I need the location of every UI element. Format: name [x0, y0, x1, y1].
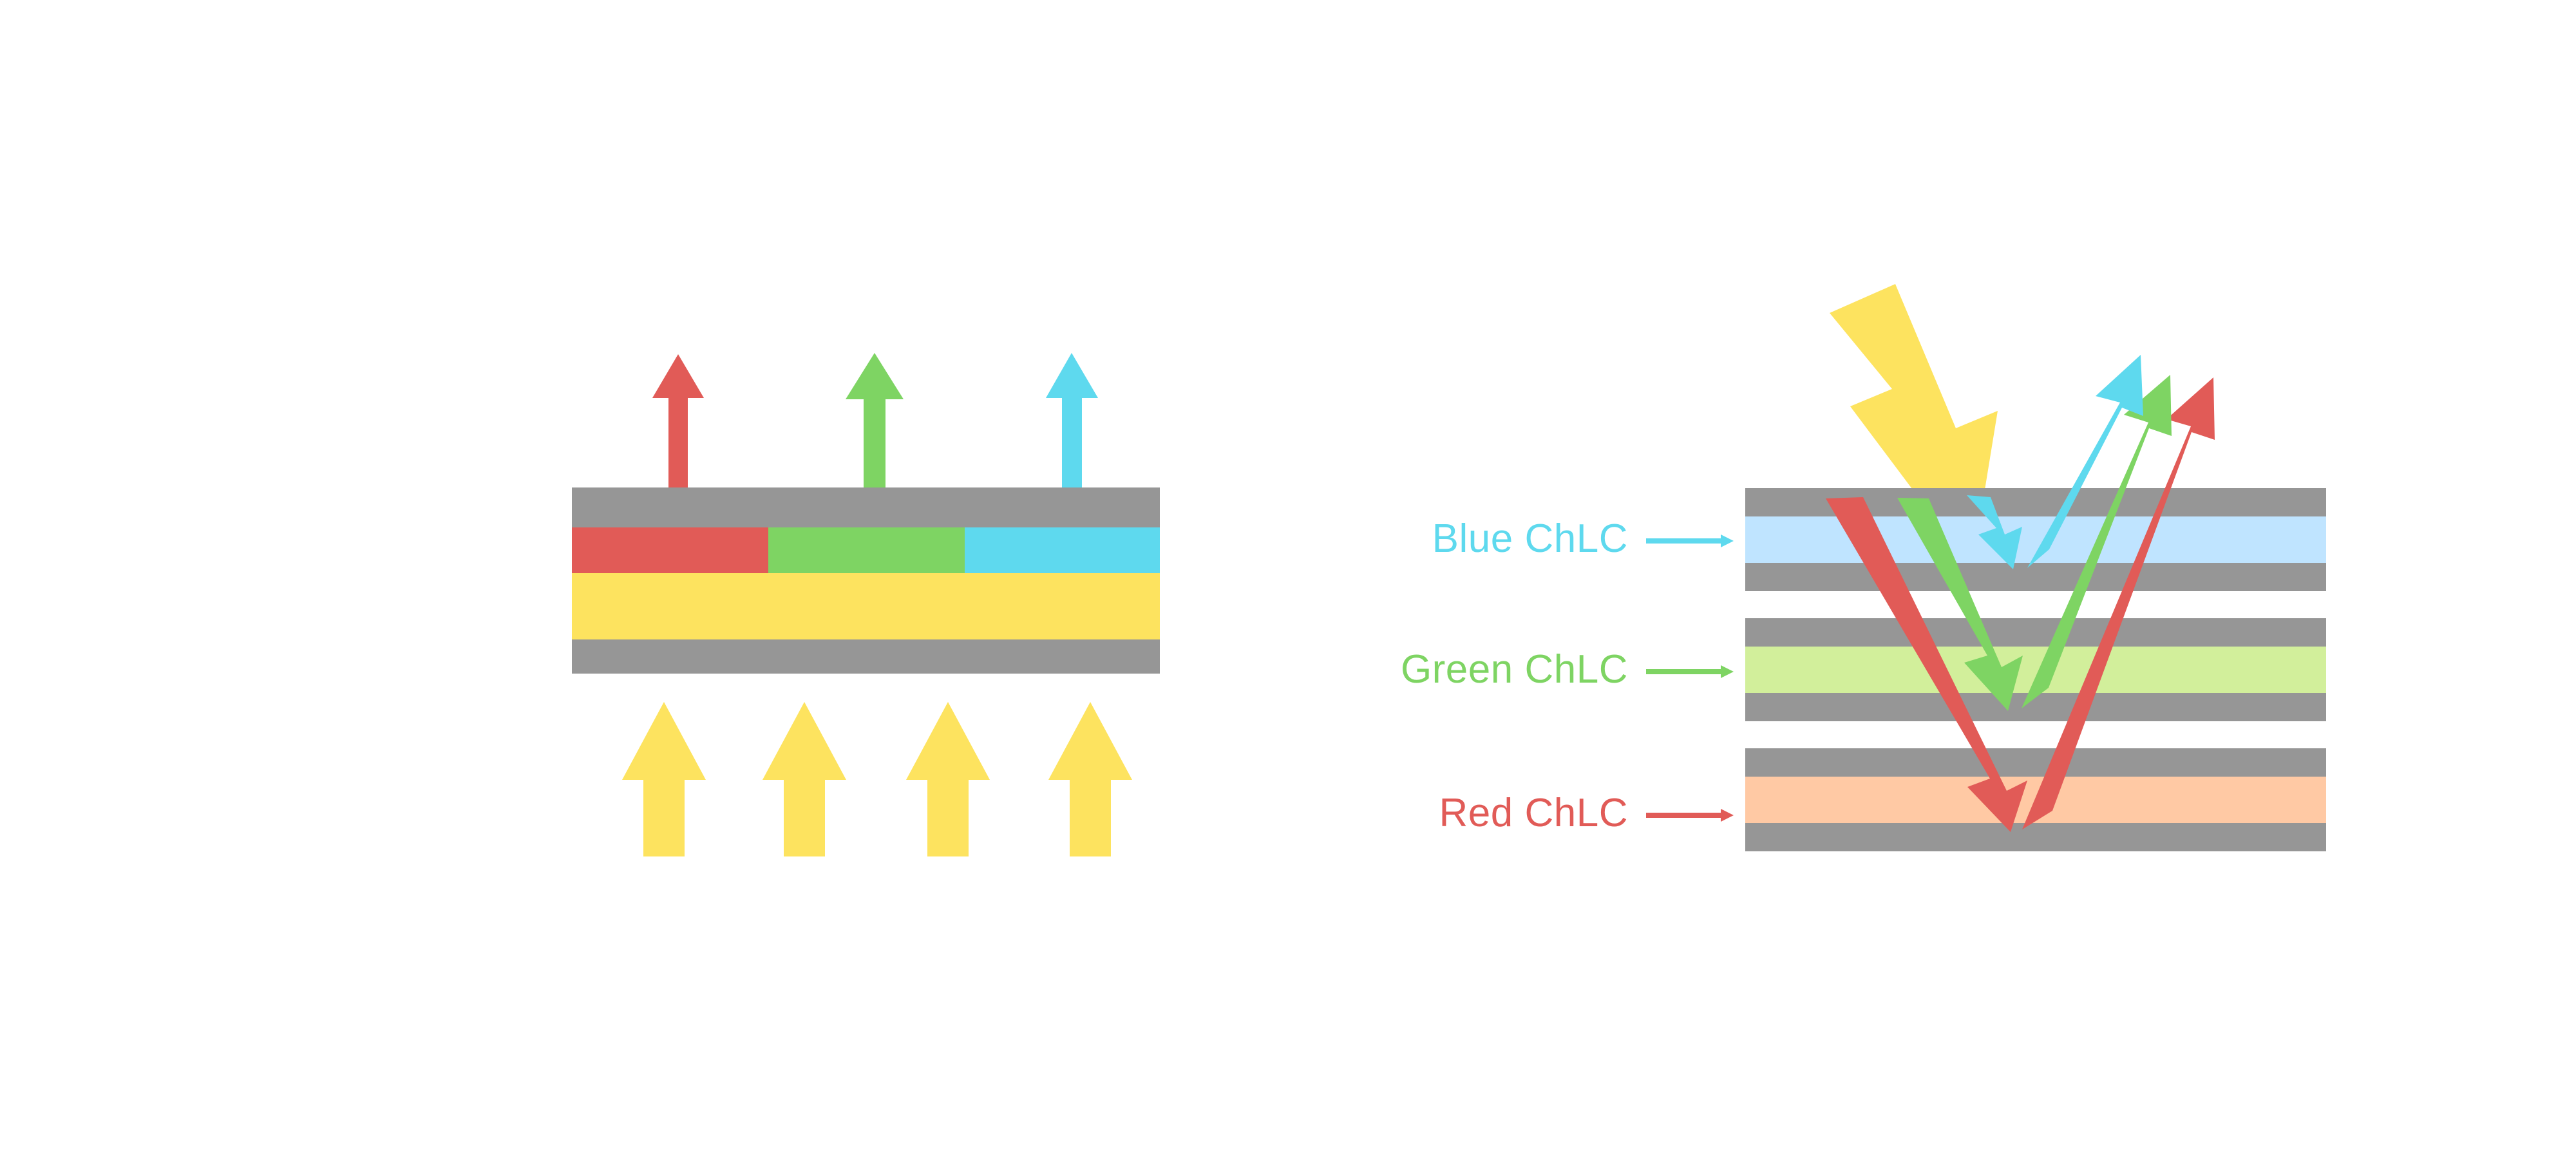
red-chlc-label-group: Red ChLC — [1439, 791, 1734, 835]
yellow-backlight-layer — [572, 573, 1160, 639]
diagram-svg: Blue ChLC Green ChLC Red ChLC — [0, 0, 2576, 1154]
blue-chlc-label-group: Blue ChLC — [1432, 516, 1734, 561]
right-panel-group: Blue ChLC Green ChLC Red ChLC — [1401, 284, 2326, 851]
left-panel-group — [572, 353, 1160, 856]
green-segment — [768, 527, 965, 573]
green-emitted-arrow — [846, 353, 904, 504]
red-cell-top-electrode — [1745, 748, 2326, 777]
red-cell-bottom-electrode — [1745, 823, 2326, 851]
top-electrode — [572, 487, 1160, 527]
green-chlc-label-group: Green ChLC — [1401, 647, 1734, 692]
red-chlc-label: Red ChLC — [1439, 791, 1628, 835]
red-emitted-arrow — [652, 354, 704, 504]
green-chlc-label: Green ChLC — [1401, 647, 1628, 692]
blue-chlc-label-arrow-icon — [1646, 534, 1734, 547]
red-chlc-label-arrow-icon — [1646, 809, 1734, 822]
green-chlc-label-arrow-icon — [1646, 665, 1734, 678]
backlight-arrows — [622, 702, 1132, 856]
bottom-electrode — [572, 639, 1160, 674]
red-segment — [572, 527, 768, 573]
cyan-emitted-arrow — [1046, 353, 1098, 504]
cyan-segment — [965, 527, 1160, 573]
blue-cell-bottom-electrode — [1745, 563, 2326, 591]
blue-chlc-label: Blue ChLC — [1432, 516, 1628, 561]
rgb-color-filter — [572, 527, 1160, 573]
green-cell-top-electrode — [1745, 618, 2326, 647]
diagram-canvas: Blue ChLC Green ChLC Red ChLC — [0, 0, 2576, 1154]
